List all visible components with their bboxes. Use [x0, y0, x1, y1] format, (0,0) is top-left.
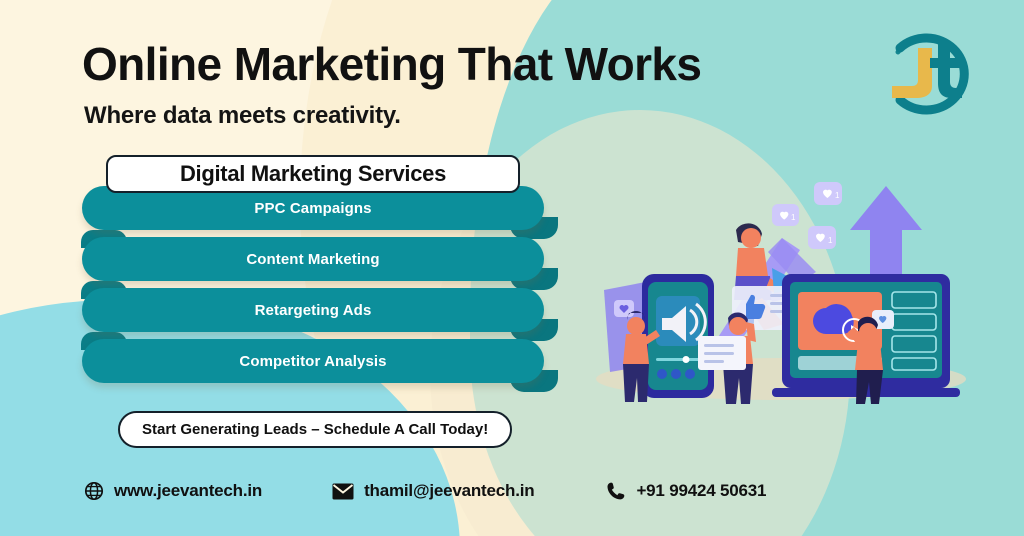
- service-item-retargeting-ads[interactable]: Retargeting Ads: [82, 288, 544, 332]
- contact-website[interactable]: www.jeevantech.in: [84, 481, 262, 501]
- contact-email-text: thamil@jeevantech.in: [364, 481, 534, 501]
- services-header: Digital Marketing Services: [106, 155, 520, 193]
- contact-phone[interactable]: +91 99424 50631: [606, 481, 766, 501]
- pill-fold-bottom-icon: [510, 268, 558, 290]
- svg-text:1: 1: [791, 213, 796, 222]
- service-item-competitor-analysis[interactable]: Competitor Analysis: [82, 339, 544, 383]
- pill-fold-bottom-icon: [510, 370, 558, 392]
- digital-marketing-illustration: 1 1 1: [586, 168, 976, 408]
- services-list: PPC Campaigns Content Marketing Retarget…: [82, 186, 552, 390]
- contact-phone-text: +91 99424 50631: [636, 481, 766, 501]
- heart-bubble: 1: [814, 182, 842, 205]
- svg-text:1: 1: [835, 191, 840, 200]
- pill-fold-top-icon: [81, 230, 127, 248]
- contact-website-text: www.jeevantech.in: [114, 481, 262, 501]
- page-subtitle: Where data meets creativity.: [84, 102, 401, 130]
- service-item-label: Content Marketing: [246, 251, 379, 268]
- marketing-banner: Online Marketing That Works Where data m…: [0, 0, 1024, 536]
- like-bubble: 1: [772, 204, 799, 226]
- service-item-content-marketing[interactable]: Content Marketing: [82, 237, 544, 281]
- brand-logo[interactable]: [874, 28, 982, 120]
- document-card: [698, 336, 746, 370]
- contact-footer: www.jeevantech.in thamil@jeevantech.in +…: [84, 474, 954, 508]
- service-item-label: Retargeting Ads: [255, 302, 372, 319]
- cta-button[interactable]: Start Generating Leads – Schedule A Call…: [118, 411, 512, 448]
- pill-fold-bottom-icon: [510, 217, 558, 239]
- pill-fold-top-icon: [81, 332, 127, 350]
- contact-email[interactable]: thamil@jeevantech.in: [332, 481, 534, 501]
- page-title: Online Marketing That Works: [82, 40, 701, 88]
- envelope-icon: [332, 483, 354, 500]
- svg-text:1: 1: [828, 236, 833, 245]
- service-item-label: PPC Campaigns: [254, 200, 371, 217]
- service-item-label: Competitor Analysis: [239, 353, 386, 370]
- heart-bubble-small: 1: [808, 226, 836, 249]
- small-heart-bubble-left: [614, 300, 634, 317]
- globe-icon: [84, 481, 104, 501]
- phone-icon: [606, 481, 626, 501]
- pill-fold-top-icon: [81, 281, 127, 299]
- pill-fold-bottom-icon: [510, 319, 558, 341]
